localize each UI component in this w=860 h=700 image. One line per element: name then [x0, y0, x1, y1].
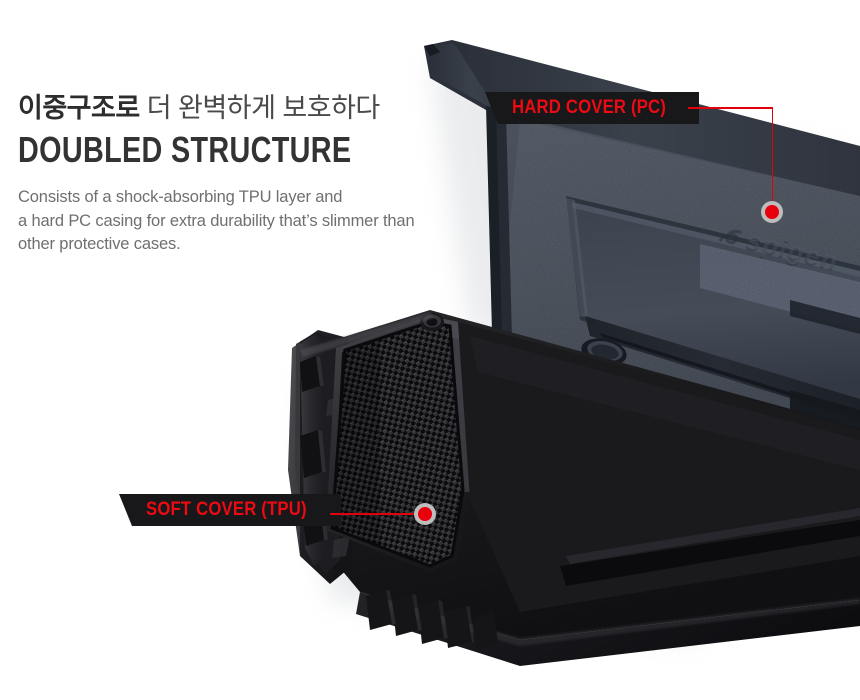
soft-cover-badge-label: SOFT COVER (TPU) — [146, 499, 307, 521]
hard-cover-badge: HARD COVER (PC) — [498, 92, 699, 124]
hard-cover-badge-label: HARD COVER (PC) — [512, 97, 666, 119]
carbon-fiber-panel — [320, 310, 480, 580]
soft-cover-leader-horizontal — [330, 513, 422, 515]
headline-korean-light: 더 완벽하게 보호하다 — [140, 93, 380, 123]
product-feature-banner: spigen spigen — [0, 0, 860, 700]
svg-text:spigen: spigen — [742, 227, 844, 275]
hard-cover-leader-horizontal — [688, 107, 773, 109]
body-copy-line-2: a hard PC casing for extra durability th… — [18, 210, 488, 234]
svg-text:spigen: spigen — [741, 229, 843, 277]
body-copy-line-3: other protective cases. — [18, 233, 488, 257]
soft-cover-marker-dot — [414, 503, 436, 525]
copy-block: 이중구조로 더 완벽하게 보호하다 DOUBLED STRUCTURE Cons… — [18, 90, 488, 257]
soft-tpu-cover-art — [286, 310, 860, 666]
corner-grip-notches — [366, 590, 498, 650]
soft-cover-badge: SOFT COVER (TPU) — [132, 494, 341, 526]
headline-english: DOUBLED STRUCTURE — [18, 128, 394, 172]
headline-korean-strong: 이중구조로 — [18, 93, 140, 123]
hard-cover-marker-dot — [761, 201, 783, 223]
body-copy: Consists of a shock-absorbing TPU layer … — [18, 186, 488, 257]
headline-korean: 이중구조로 더 완벽하게 보호하다 — [18, 90, 488, 126]
screw-detail — [420, 313, 548, 531]
rail-fins — [326, 396, 350, 558]
hard-cover-leader-vertical — [772, 107, 774, 207]
body-copy-line-1: Consists of a shock-absorbing TPU layer … — [18, 186, 488, 210]
spigen-logo: spigen spigen — [718, 220, 843, 278]
